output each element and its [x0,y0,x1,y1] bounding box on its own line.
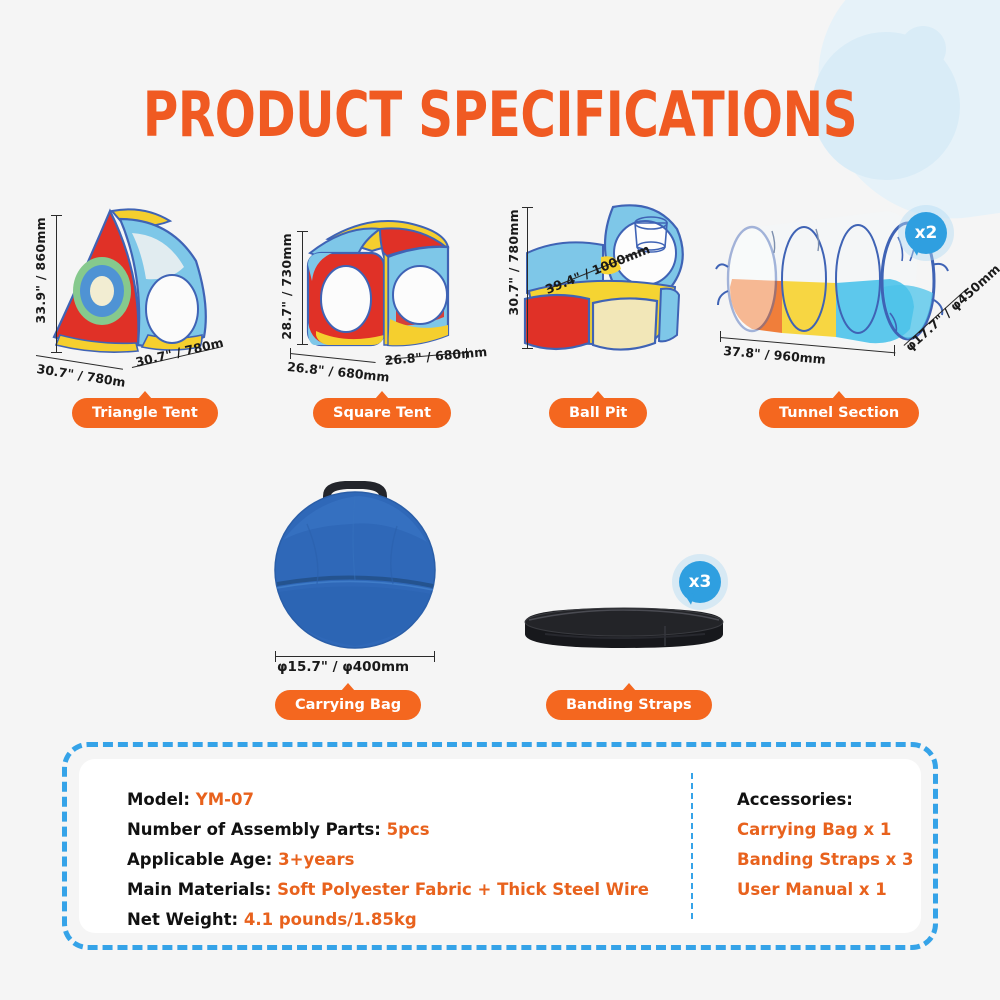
ballpit-height-rule [527,207,528,349]
label-carrying-bag: Carrying Bag [275,690,421,720]
spec-row-net-weight: Net Weight: 4.1 pounds/1.85kg [127,905,691,935]
decorative-circle-small [900,26,946,72]
bag-diameter-tick-right [434,651,435,662]
spec-row-model: Model: YM-07 [127,785,691,815]
square-left-tick [290,348,291,359]
spec-value-assembly-parts: 5pcs [387,820,430,839]
triangle-height-tick-bottom [51,352,62,353]
spec-row-assembly-parts: Number of Assembly Parts: 5pcs [127,815,691,845]
spec-value-net-weight: 4.1 pounds/1.85kg [244,910,417,929]
square-height-tick-top [297,231,308,232]
specifications-panel: Model: YM-07 Number of Assembly Parts: 5… [79,759,921,933]
spec-label-main-materials: Main Materials: [127,880,277,899]
triangle-height-rule [56,215,57,353]
spec-row-applicable-age: Applicable Age: 3+years [127,845,691,875]
accessory-item-banding-straps: Banding Straps x 3 [737,845,921,875]
accessories-heading: Accessories: [737,785,921,815]
product-square-tent: 28.7" / 730mm 26.8" / 680mm 26.8" / 680m… [268,195,488,375]
label-square-tent: Square Tent [313,398,451,428]
label-triangle-tent: Triangle Tent [72,398,218,428]
tunnel-length-tick-right [894,345,895,356]
triangle-height-tick-top [51,215,62,216]
square-height-rule [302,231,303,345]
spec-label-applicable-age: Applicable Age: [127,850,278,869]
accessory-item-user-manual: User Manual x 1 [737,875,921,905]
badge-tunnel-quantity: x2 [905,212,947,254]
triangle-height-label: 33.9" / 860mm [33,217,48,324]
bag-diameter-rule [275,656,435,657]
spec-label-model: Model: [127,790,196,809]
specifications-box: Model: YM-07 Number of Assembly Parts: 5… [62,742,938,950]
square-height-label: 28.7" / 730mm [279,233,294,340]
product-banding-straps [515,600,735,660]
spec-value-model: YM-07 [196,790,254,809]
carrying-bag-illustration [255,466,455,666]
product-ball-pit: 30.7" / 780mm 39.4" / 1000mm [505,195,715,375]
ballpit-height-tick-top [522,207,533,208]
product-triangle-tent: 33.9" / 860mm 30.7" / 780m 30.7" / 780m [20,195,250,375]
label-ball-pit: Ball Pit [549,398,647,428]
infographic-page: PRODUCT SPECIFICATIONS [0,0,1000,1000]
spec-value-applicable-age: 3+years [278,850,354,869]
tunnel-length-tick-left [720,331,721,342]
badge-straps-quantity: x3 [679,561,721,603]
square-height-tick-bottom [297,344,308,345]
accessory-item-carrying-bag: Carrying Bag x 1 [737,815,921,845]
ballpit-height-tick-bottom [522,348,533,349]
label-banding-straps: Banding Straps [546,690,712,720]
page-title: PRODUCT SPECIFICATIONS [110,78,890,151]
spec-row-main-materials: Main Materials: Soft Polyester Fabric + … [127,875,691,905]
product-carrying-bag [255,466,455,666]
label-tunnel-section: Tunnel Section [759,398,919,428]
ball-pit-illustration [505,195,715,375]
spec-label-net-weight: Net Weight: [127,910,244,929]
spec-label-assembly-parts: Number of Assembly Parts: [127,820,387,839]
bag-diameter-label: φ15.7" / φ400mm [277,659,409,675]
specifications-list: Model: YM-07 Number of Assembly Parts: 5… [79,759,691,933]
banding-straps-illustration [515,600,735,660]
spec-value-main-materials: Soft Polyester Fabric + Thick Steel Wire [277,880,649,899]
accessories-list: Accessories: Carrying Bag x 1 Banding St… [693,759,921,933]
ballpit-height-label: 30.7" / 780mm [506,209,521,316]
